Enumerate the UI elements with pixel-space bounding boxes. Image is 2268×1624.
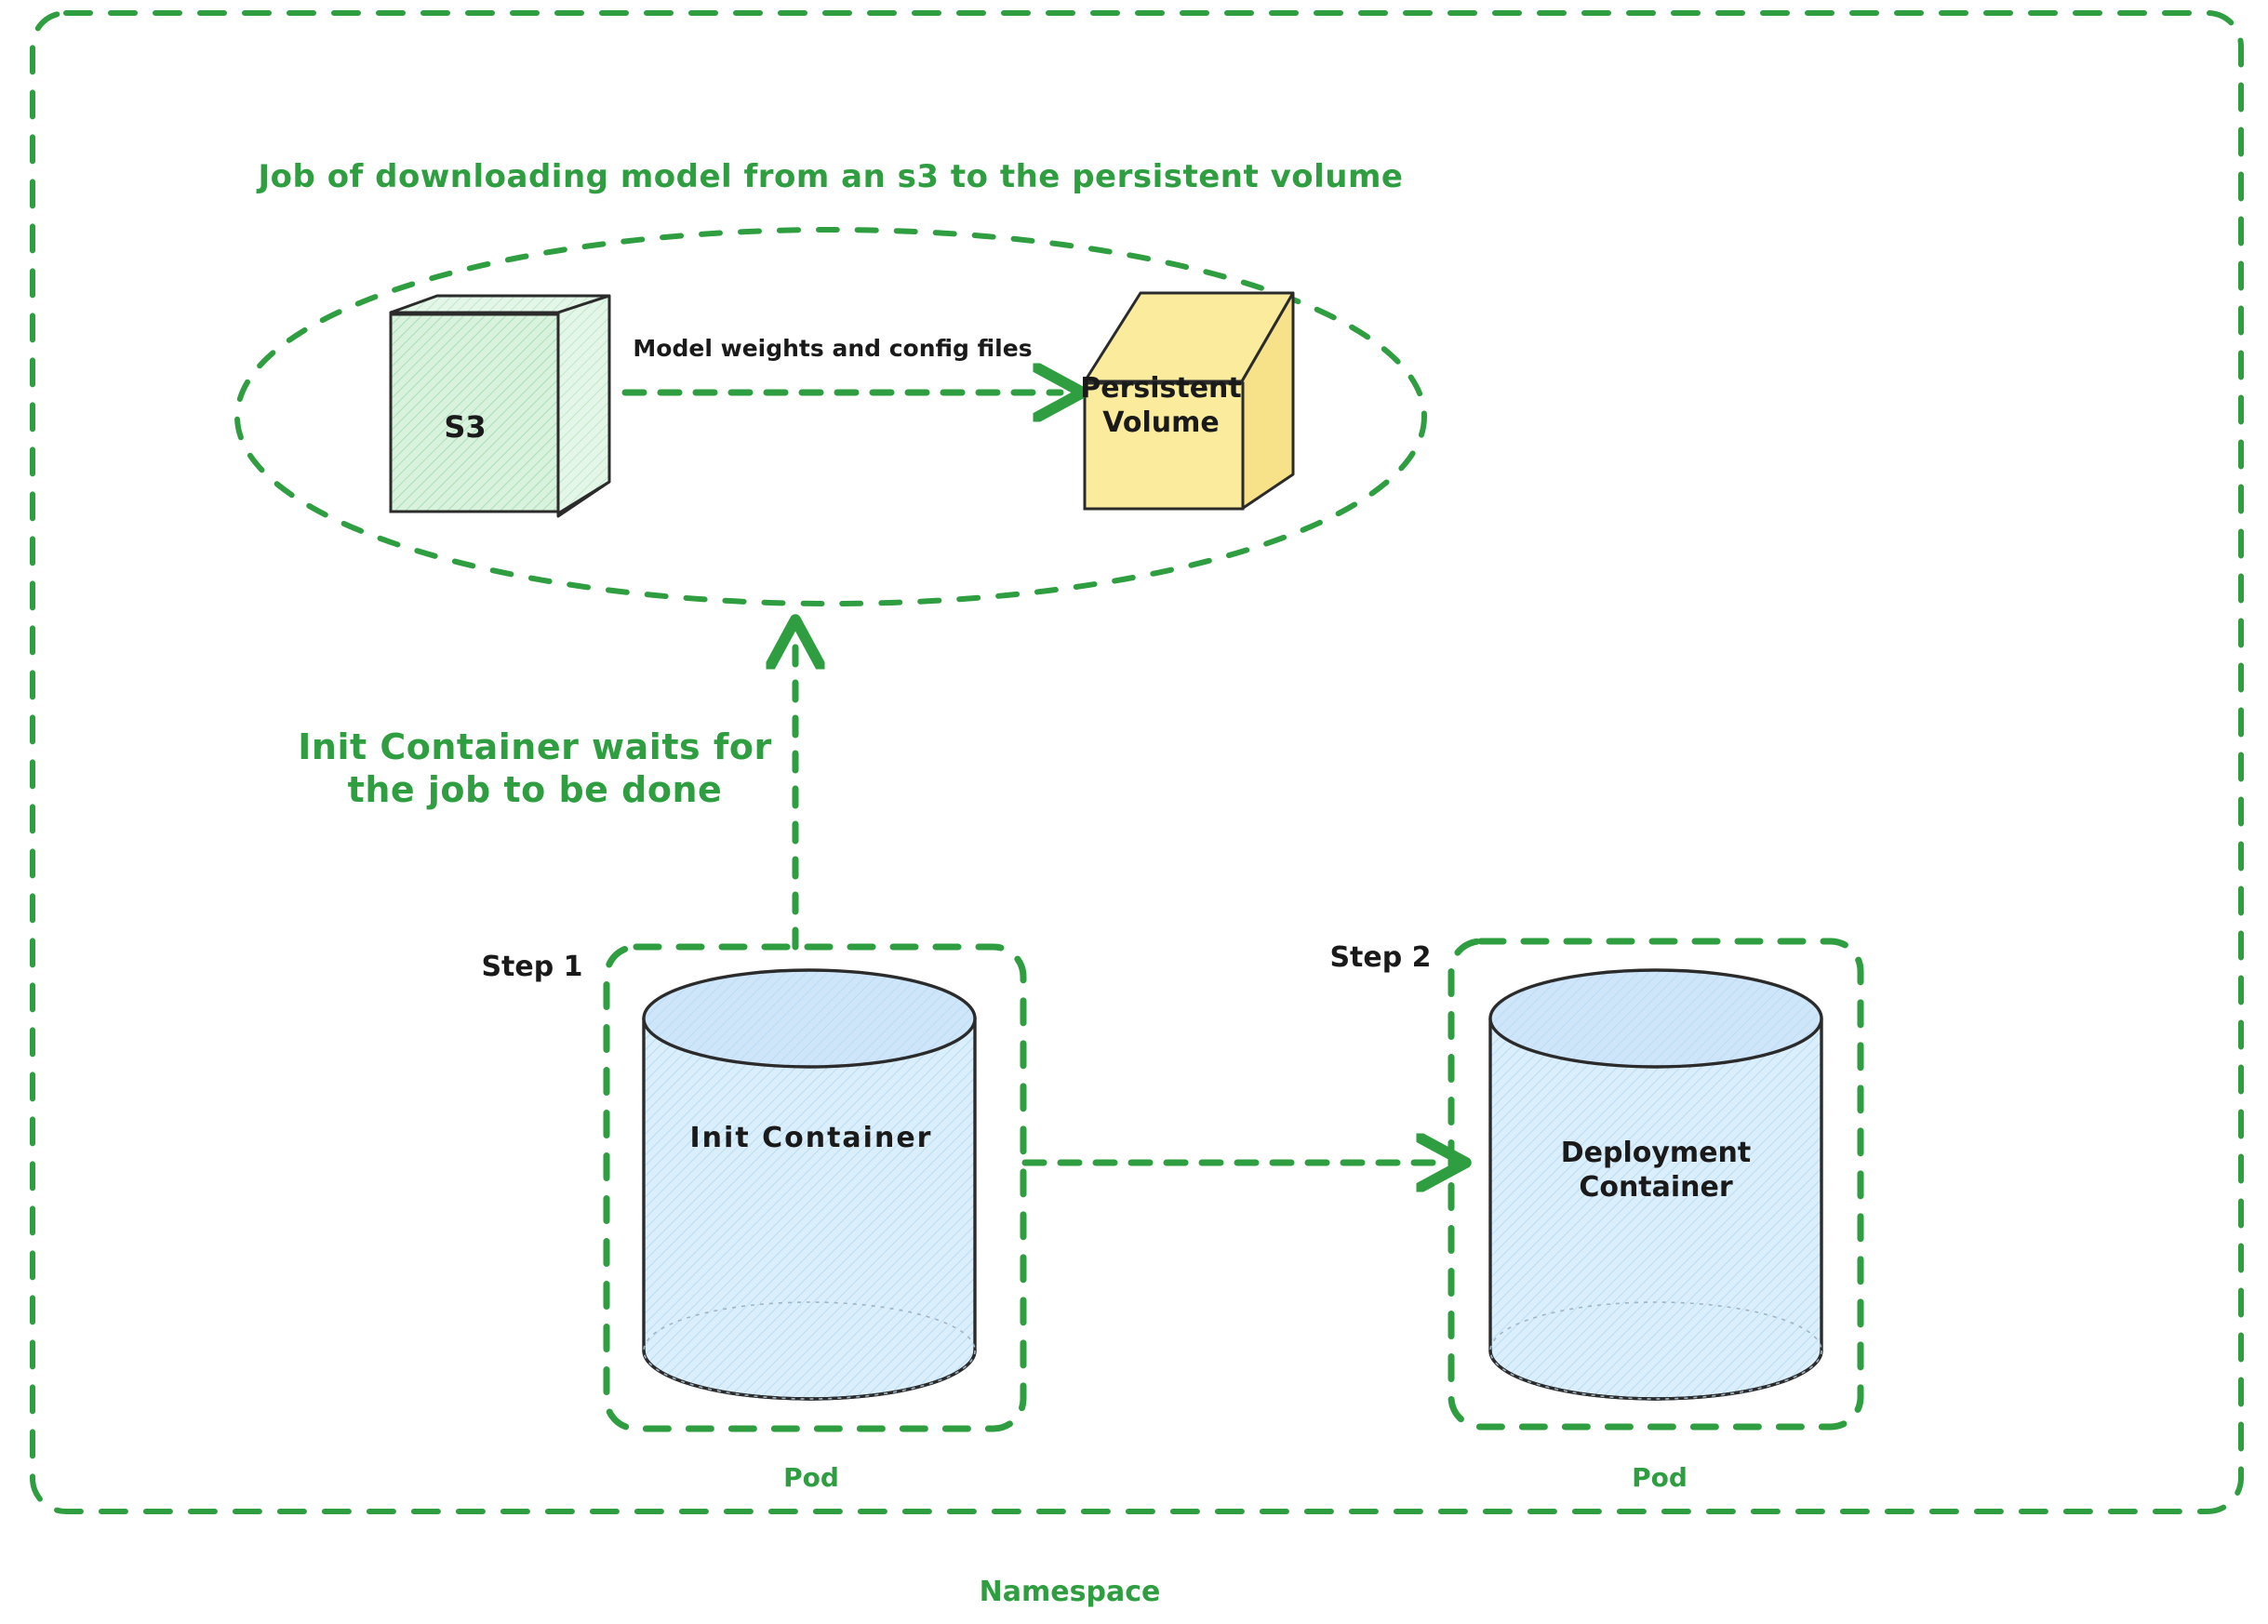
init-container-wait-annotation: Init Container waits forthe job to be do… (298, 725, 771, 812)
deployment-container-label-line2: Container (1579, 1171, 1732, 1204)
step-2-label: Step 2 (1329, 941, 1431, 976)
wait-annotation-line2: the job to be done (348, 769, 723, 810)
persistent-volume-label-line2: Volume (1102, 406, 1219, 439)
step-1-label: Step 1 (481, 951, 582, 985)
init-container-cylinder (644, 970, 975, 1399)
job-group-title: Job of downloading model from an s3 to t… (259, 158, 1404, 196)
pod-2-label: Pod (1632, 1462, 1688, 1494)
wait-annotation-line1: Init Container waits for (298, 726, 771, 767)
deployment-container-label: DeploymentContainer (1561, 1137, 1751, 1205)
diagram-canvas: Job of downloading model from an s3 to t… (0, 0, 2268, 1624)
s3-cube (391, 296, 609, 516)
transfer-arrow-label: Model weights and config files (633, 335, 1032, 364)
s3-box-label: S3 (444, 409, 486, 446)
persistent-volume-label-line1: Persistent (1080, 372, 1242, 405)
deployment-container-label-line1: Deployment (1561, 1137, 1751, 1169)
init-container-label: Init Container (690, 1122, 933, 1156)
persistent-volume-label: PersistentVolume (1080, 372, 1242, 440)
diagram-vector-layer (0, 0, 2268, 1624)
namespace-label: Namespace (980, 1576, 1161, 1610)
pod-1-label: Pod (783, 1462, 839, 1494)
